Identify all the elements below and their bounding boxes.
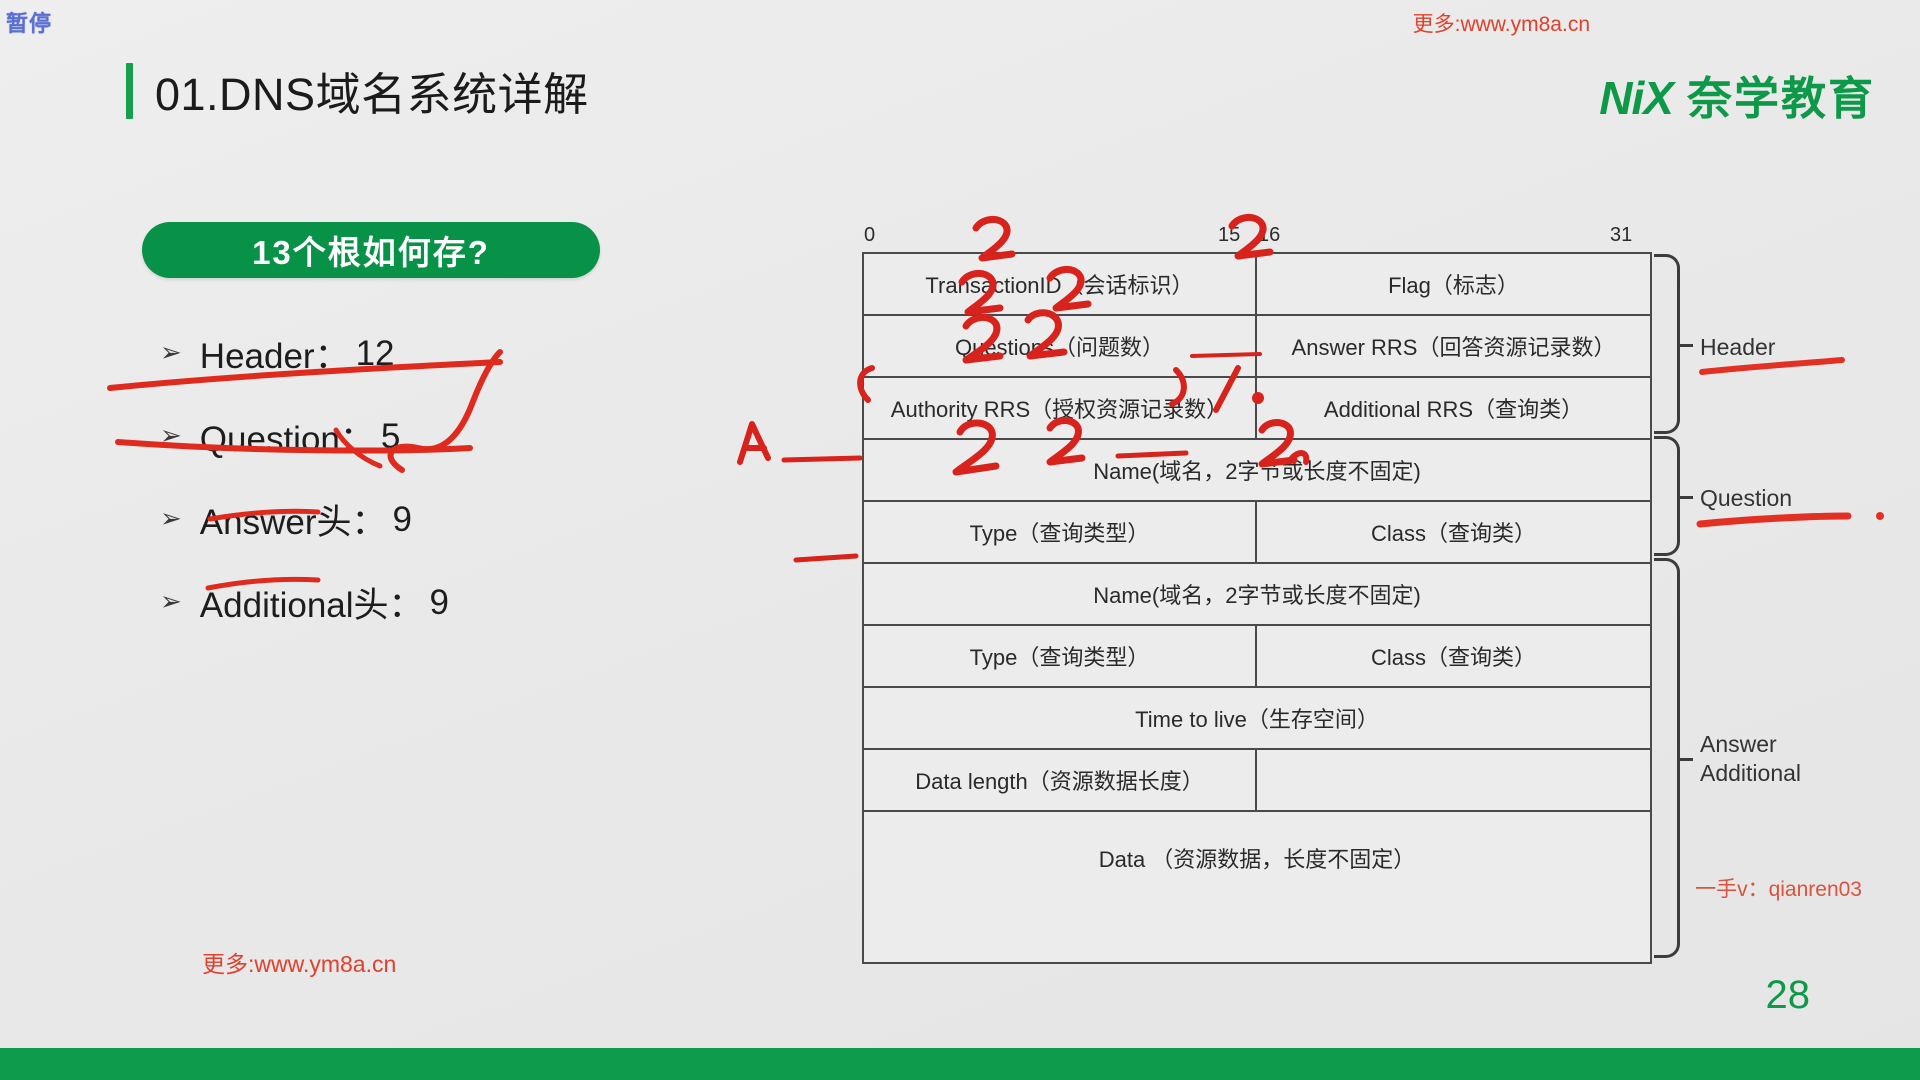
list-item: ➢ Question： 5 [160, 395, 680, 478]
packet-row: Name(域名，2字节或长度不固定) [862, 438, 1652, 500]
bullet-value: 5 [381, 417, 400, 457]
packet-cell-flag: Flag（标志） [1257, 254, 1650, 314]
packet-cell-name-answer: Name(域名，2字节或长度不固定) [864, 564, 1650, 624]
more-link-bottom[interactable]: 更多:www.ym8a.cn [202, 945, 396, 979]
bullet-arrow-icon: ➢ [160, 503, 182, 534]
bit-label-0: 0 [864, 224, 875, 247]
packet-row: Data length（资源数据长度） [862, 748, 1652, 810]
brace-header [1654, 254, 1680, 434]
bit-label-15: 15 [1218, 224, 1240, 247]
packet-cell-class-answer: Class（查询类） [1257, 626, 1650, 686]
list-item: ➢ Header： 12 [160, 312, 680, 395]
page-title: 01.DNS域名系统详解 [126, 58, 589, 123]
brace-question [1654, 436, 1680, 556]
bit-label-31: 31 [1610, 224, 1632, 247]
bit-scale: 0 15 16 31 [862, 224, 1652, 250]
bullet-label: Question： [200, 411, 375, 462]
bullet-arrow-icon: ➢ [160, 420, 182, 451]
packet-cell-name-question: Name(域名，2字节或长度不固定) [864, 440, 1650, 500]
bullet-arrow-icon: ➢ [160, 337, 182, 368]
packet-row: TransactionID（会话标识） Flag（标志） [862, 252, 1652, 314]
bottom-accent-bar [0, 1048, 1920, 1080]
more-link-top[interactable]: 更多:www.ym8a.cn [1413, 8, 1590, 38]
slide-root: 暂停 更多:www.ym8a.cn 01.DNS域名系统详解 NiX 奈学教育 … [0, 0, 1920, 1080]
contact-watermark: 一手v：qianren03 [1695, 873, 1862, 903]
bullet-label: Answer头： [200, 494, 387, 545]
packet-cell-data-length: Data length（资源数据长度） [864, 750, 1257, 810]
list-item: ➢ Additional头： 9 [160, 561, 680, 644]
packet-cell-type-answer: Type（查询类型） [864, 626, 1257, 686]
brace-label-header: Header [1700, 333, 1775, 362]
packet-cell-authority-rrs: Authority RRS（授权资源记录数） [864, 378, 1257, 438]
bullet-label: Additional头： [200, 577, 424, 628]
bullet-value: 9 [430, 583, 449, 623]
brand-mark: NiX [1599, 71, 1673, 125]
packet-cell-type-question: Type（查询类型） [864, 502, 1257, 562]
bullet-label: Header： [200, 328, 350, 379]
packet-cell-time-to-live: Time to live（生存空间） [864, 688, 1650, 748]
packet-row: Questions（问题数） Answer RRS（回答资源记录数） [862, 314, 1652, 376]
packet-row: Type（查询类型） Class（查询类） [862, 500, 1652, 562]
packet-cell-additional-rrs: Additional RRS（查询类） [1257, 378, 1650, 438]
packet-cell-class-question: Class（查询类） [1257, 502, 1650, 562]
packet-row: Data （资源数据，长度不固定） [862, 810, 1652, 964]
packet-row: Name(域名，2字节或长度不固定) [862, 562, 1652, 624]
title-accent-bar [126, 63, 133, 119]
brace-label-answer-additional: Answer Additional [1700, 730, 1801, 787]
packet-cell-questions: Questions（问题数） [864, 316, 1257, 376]
bullet-value: 12 [356, 334, 395, 374]
bit-label-16: 16 [1258, 224, 1280, 247]
list-item: ➢ Answer头： 9 [160, 478, 680, 561]
packet-cell-data: Data （资源数据，长度不固定） [864, 812, 1650, 962]
packet-row: Type（查询类型） Class（查询类） [862, 624, 1652, 686]
section-pill: 13个根如何存? [142, 222, 600, 278]
brand-logo: NiX 奈学教育 [1599, 62, 1875, 127]
dns-packet-diagram: TransactionID（会话标识） Flag（标志） Questions（问… [862, 252, 1652, 964]
brace-label-question: Question [1700, 484, 1792, 513]
bullet-value: 9 [393, 500, 412, 540]
packet-cell-empty [1257, 750, 1650, 810]
brace-answer-additional [1654, 558, 1680, 958]
packet-row: Authority RRS（授权资源记录数） Additional RRS（查询… [862, 376, 1652, 438]
page-number: 28 [1766, 973, 1811, 1018]
packet-row: Time to live（生存空间） [862, 686, 1652, 748]
packet-cell-answer-rrs: Answer RRS（回答资源记录数） [1257, 316, 1650, 376]
pause-overlay-label: 暂停 [6, 6, 52, 38]
bullet-list: ➢ Header： 12 ➢ Question： 5 ➢ Answer头： 9 … [160, 312, 680, 644]
packet-cell-transaction-id: TransactionID（会话标识） [864, 254, 1257, 314]
title-text: 01.DNS域名系统详解 [155, 58, 589, 123]
brand-name: 奈学教育 [1687, 62, 1875, 127]
bullet-arrow-icon: ➢ [160, 586, 182, 617]
